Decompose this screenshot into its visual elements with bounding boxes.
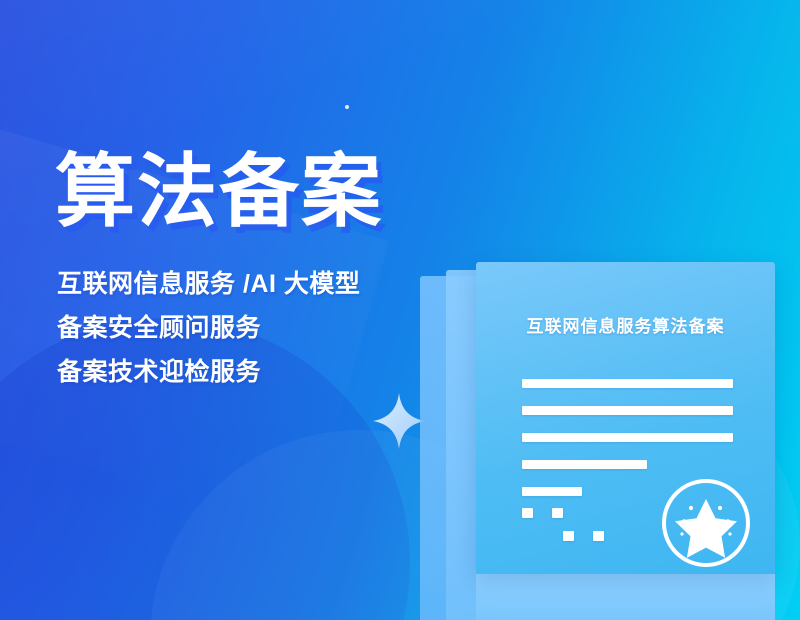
document-card-base-band (476, 573, 775, 620)
document-card-stack: 互联网信息服务算法备案 (0, 0, 800, 620)
document-dot (552, 508, 563, 518)
promo-banner: 算法备案 互联网信息服务 /AI 大模型 备案安全顾问服务 备案技术迎检服务 互… (0, 0, 800, 620)
star-seal-icon (660, 477, 752, 569)
document-line (522, 487, 582, 496)
document-line (522, 460, 647, 469)
document-dot (563, 531, 574, 541)
document-card-title: 互联网信息服务算法备案 (476, 312, 775, 337)
document-line (522, 433, 733, 442)
document-line (522, 379, 733, 388)
document-dot (522, 508, 533, 518)
document-line (522, 406, 733, 415)
document-dot (593, 531, 604, 541)
